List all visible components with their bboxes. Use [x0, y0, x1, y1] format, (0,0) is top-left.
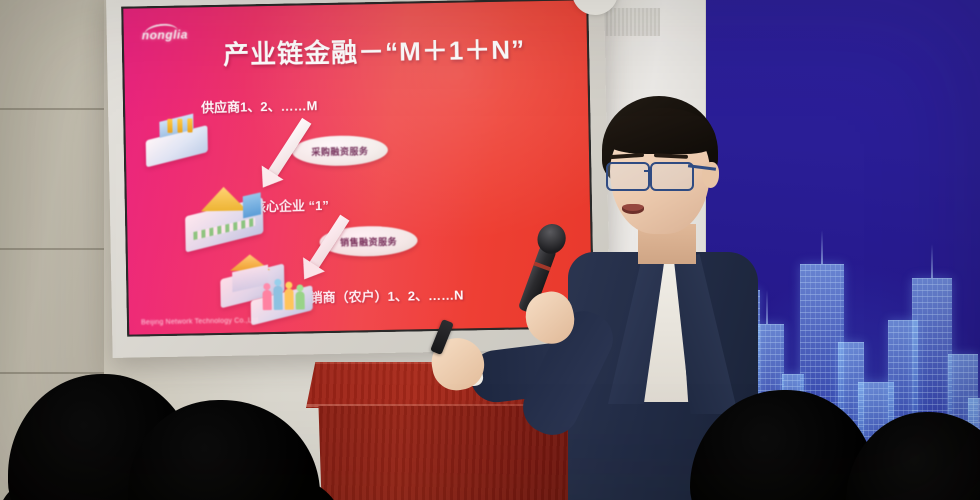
- presentation-photo-scene: nonglia 产业链金融－“M＋1＋N” 供应商1、2、……M 核心企业 “1…: [0, 0, 980, 500]
- supplier-row-label: 供应商1、2、……M: [201, 95, 318, 116]
- procurement-financing-pill: 采购融资服务: [292, 135, 389, 167]
- slide-title: 产业链金融－“M＋1＋N”: [194, 29, 555, 73]
- presenter: [410, 96, 720, 500]
- company-logo: nonglia: [142, 28, 188, 43]
- people-icon: [250, 277, 313, 318]
- presenter-mouth: [622, 204, 644, 214]
- eyeglasses: [606, 162, 650, 191]
- core-enterprise-label: 核心企业 “1”: [253, 195, 329, 215]
- factory-icon: [145, 115, 208, 160]
- plant-icon: [185, 184, 264, 243]
- slide-footer-copyright: Beijing Network Technology Co.,Ltd: [141, 317, 258, 326]
- vent-grille: [598, 8, 660, 36]
